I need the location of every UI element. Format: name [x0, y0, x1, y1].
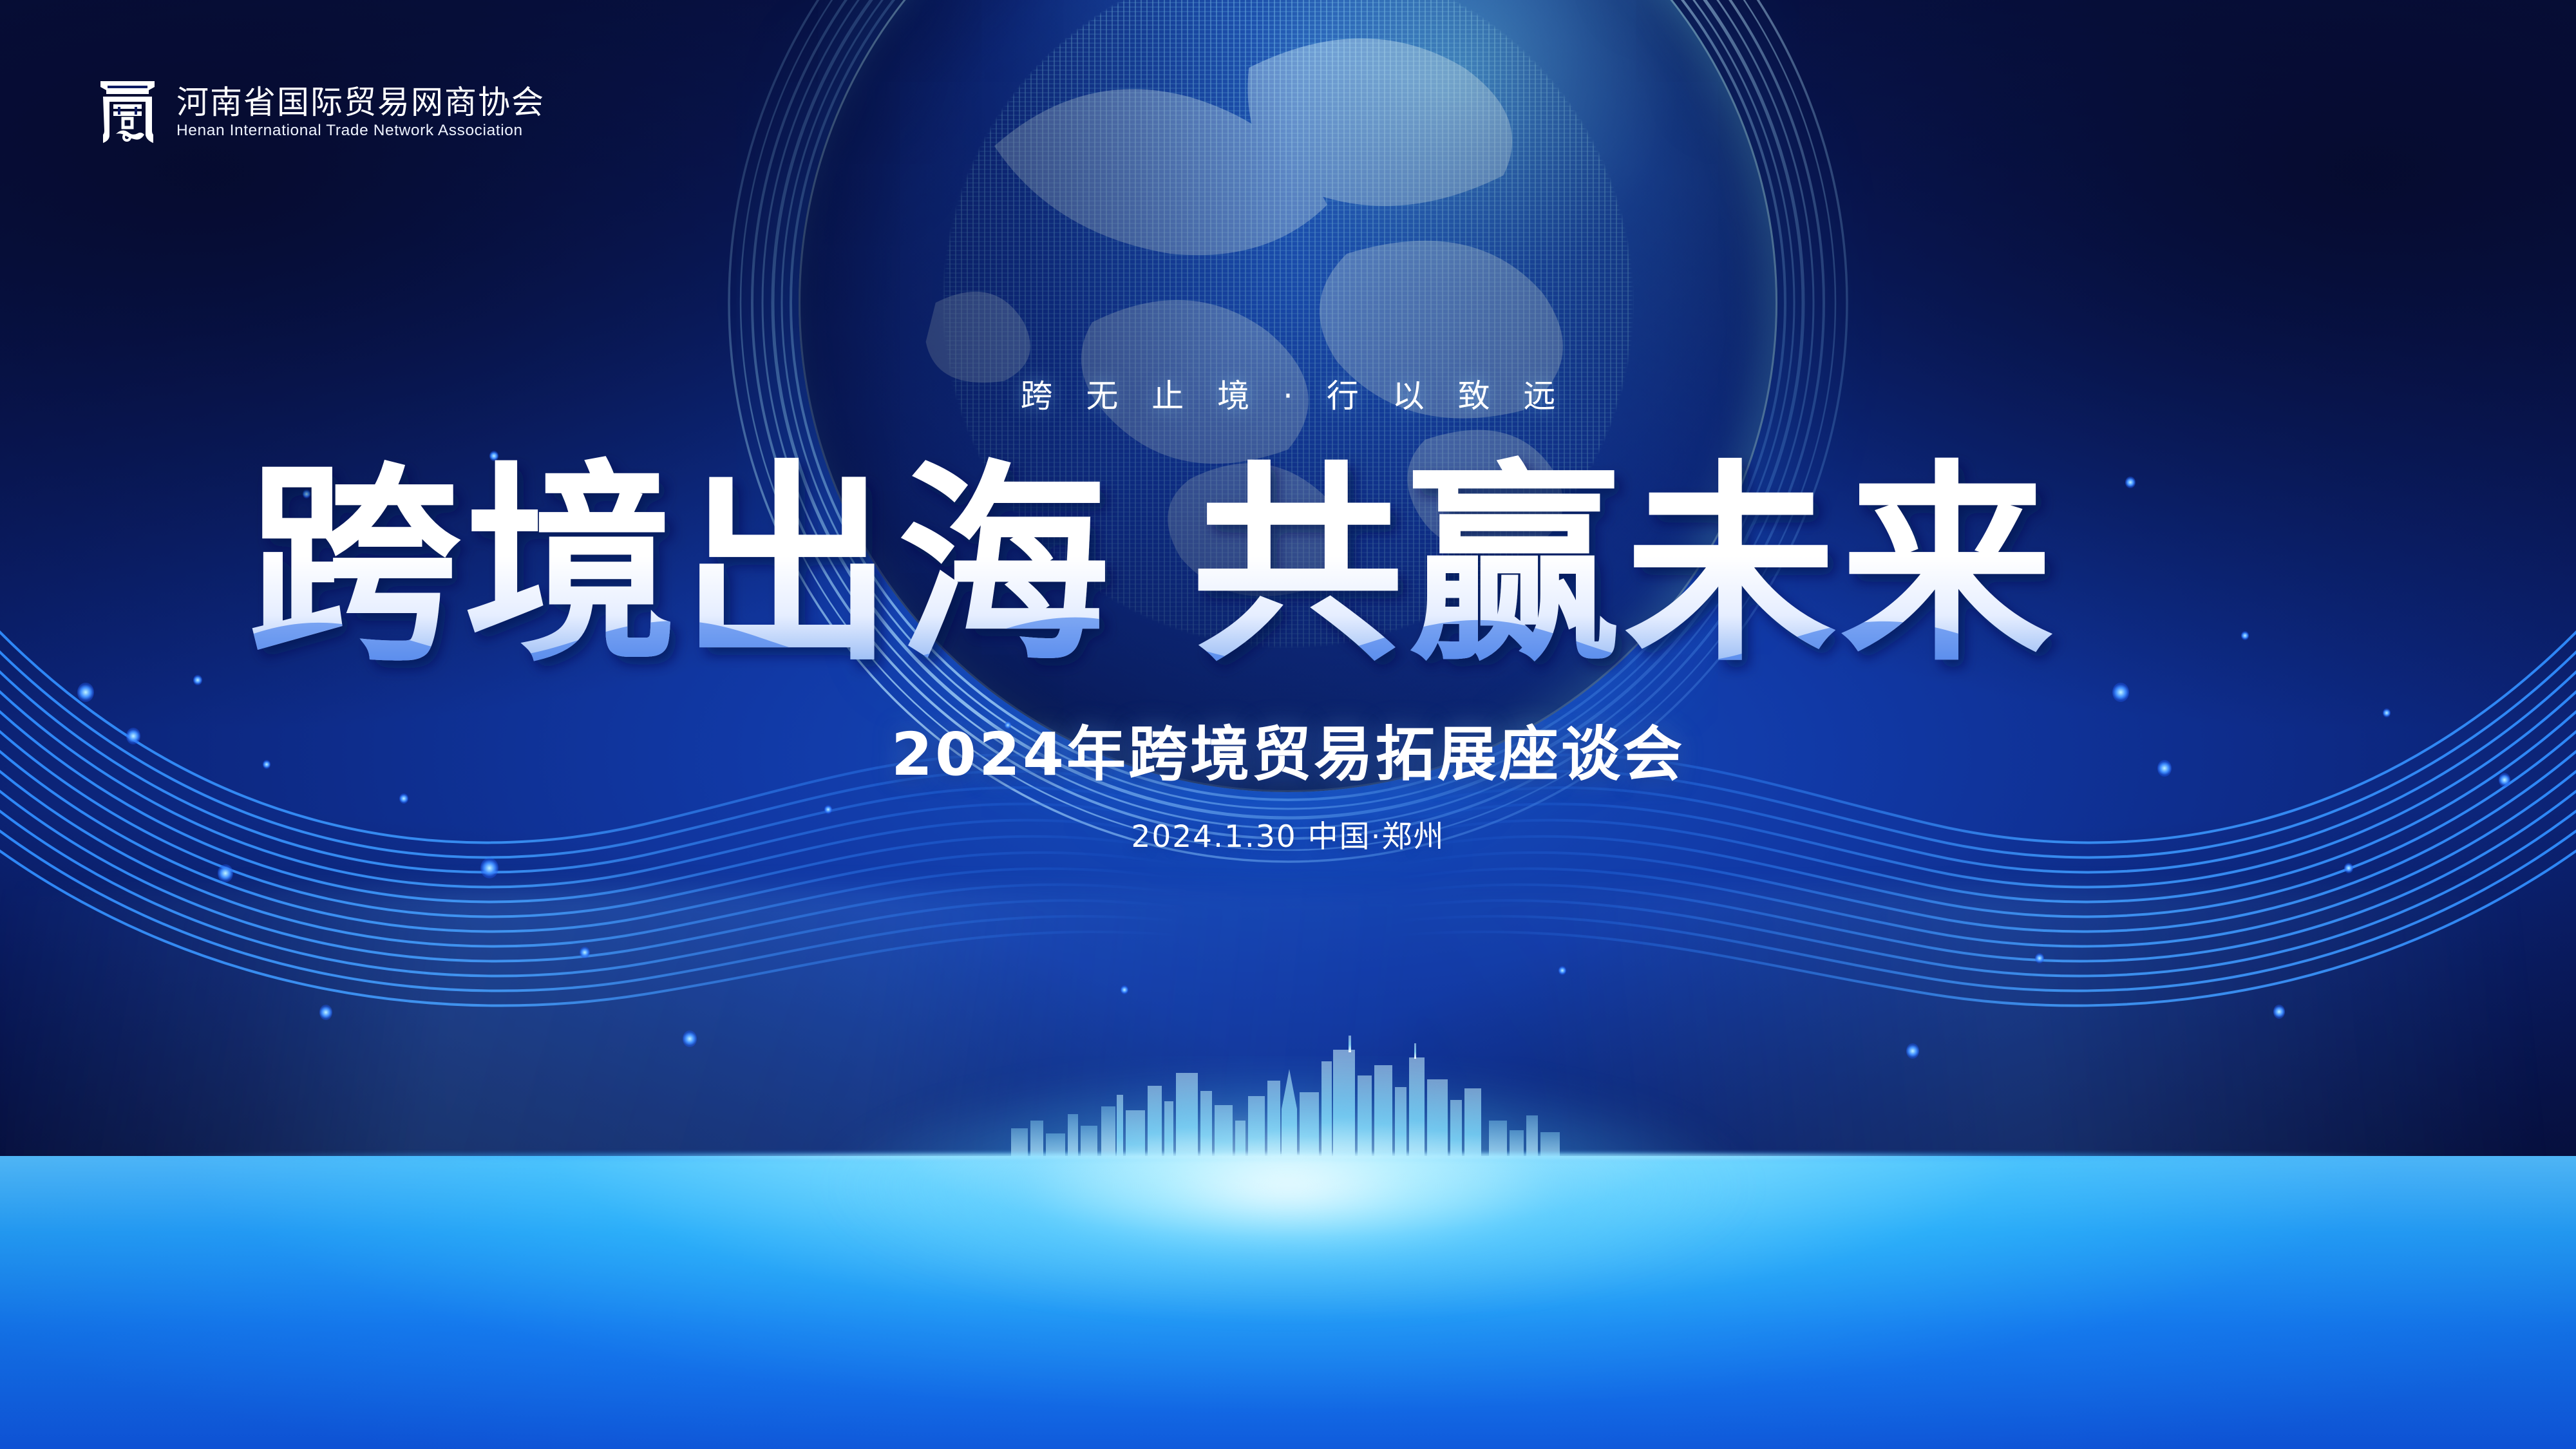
logo-text-block: 河南省国际贸易网商协会 Henan International Trade Ne… — [176, 85, 545, 140]
association-name-cn: 河南省国际贸易网商协会 — [176, 85, 545, 120]
hero-content: 跨 无 止 境 · 行 以 致 远 — [0, 0, 2576, 1449]
event-subtitle: 2024年跨境贸易拓展座谈会 — [891, 706, 1685, 792]
seal-emblem-icon — [97, 77, 158, 147]
main-title-art: 跨境出海 共赢未来 跨境出海 共赢未来 — [248, 435, 2328, 692]
main-title: 跨境出海 共赢未来 跨境出海 共赢未来 — [248, 435, 2328, 692]
event-tagline: 跨 无 止 境 · 行 以 致 远 — [1009, 370, 1567, 417]
event-date-location: 2024.1.30 中国·郑州 — [1131, 811, 1444, 856]
association-name-en: Henan International Trade Network Associ… — [176, 122, 545, 140]
association-logo: 河南省国际贸易网商协会 Henan International Trade Ne… — [97, 77, 545, 147]
event-banner: 河南省国际贸易网商协会 Henan International Trade Ne… — [0, 0, 2576, 1449]
